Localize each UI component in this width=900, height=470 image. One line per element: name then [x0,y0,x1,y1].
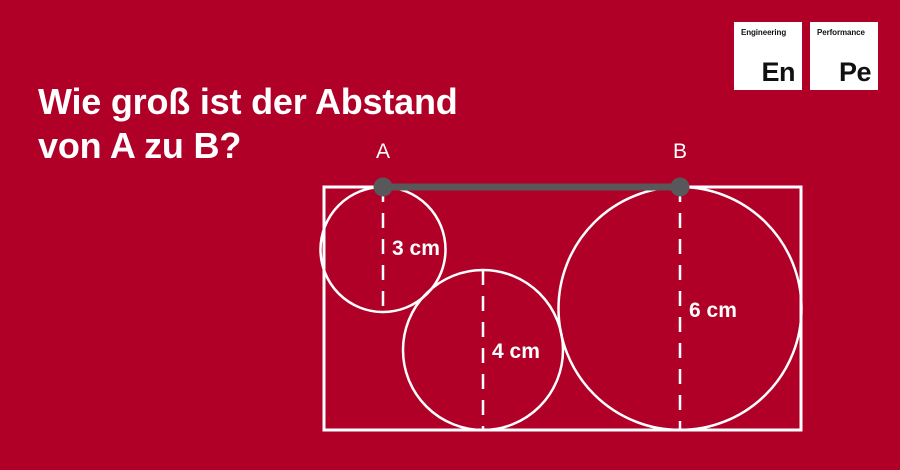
badge-performance: Performance Pe [810,22,878,90]
badge-engineering-symbol: En [761,59,795,86]
geometry-figure: A B 3 cm 4 cm 6 cm [300,130,840,460]
circle-3-diameter-label: 6 cm [689,299,737,322]
circle-1-diameter-label: 3 cm [392,237,440,260]
slide-canvas: Wie groß ist der Abstand von A zu B? Eng… [0,0,900,470]
badge-engineering: Engineering En [734,22,802,90]
point-marker-b [671,178,690,197]
circle-2-diameter-label: 4 cm [492,340,540,363]
element-badge-group: Engineering En Performance Pe [734,22,878,90]
point-label-a: A [376,140,390,163]
badge-engineering-caption: Engineering [741,29,786,37]
badge-performance-caption: Performance [817,29,865,37]
badge-performance-symbol: Pe [839,59,871,86]
point-label-b: B [673,140,687,163]
point-marker-a [374,178,393,197]
